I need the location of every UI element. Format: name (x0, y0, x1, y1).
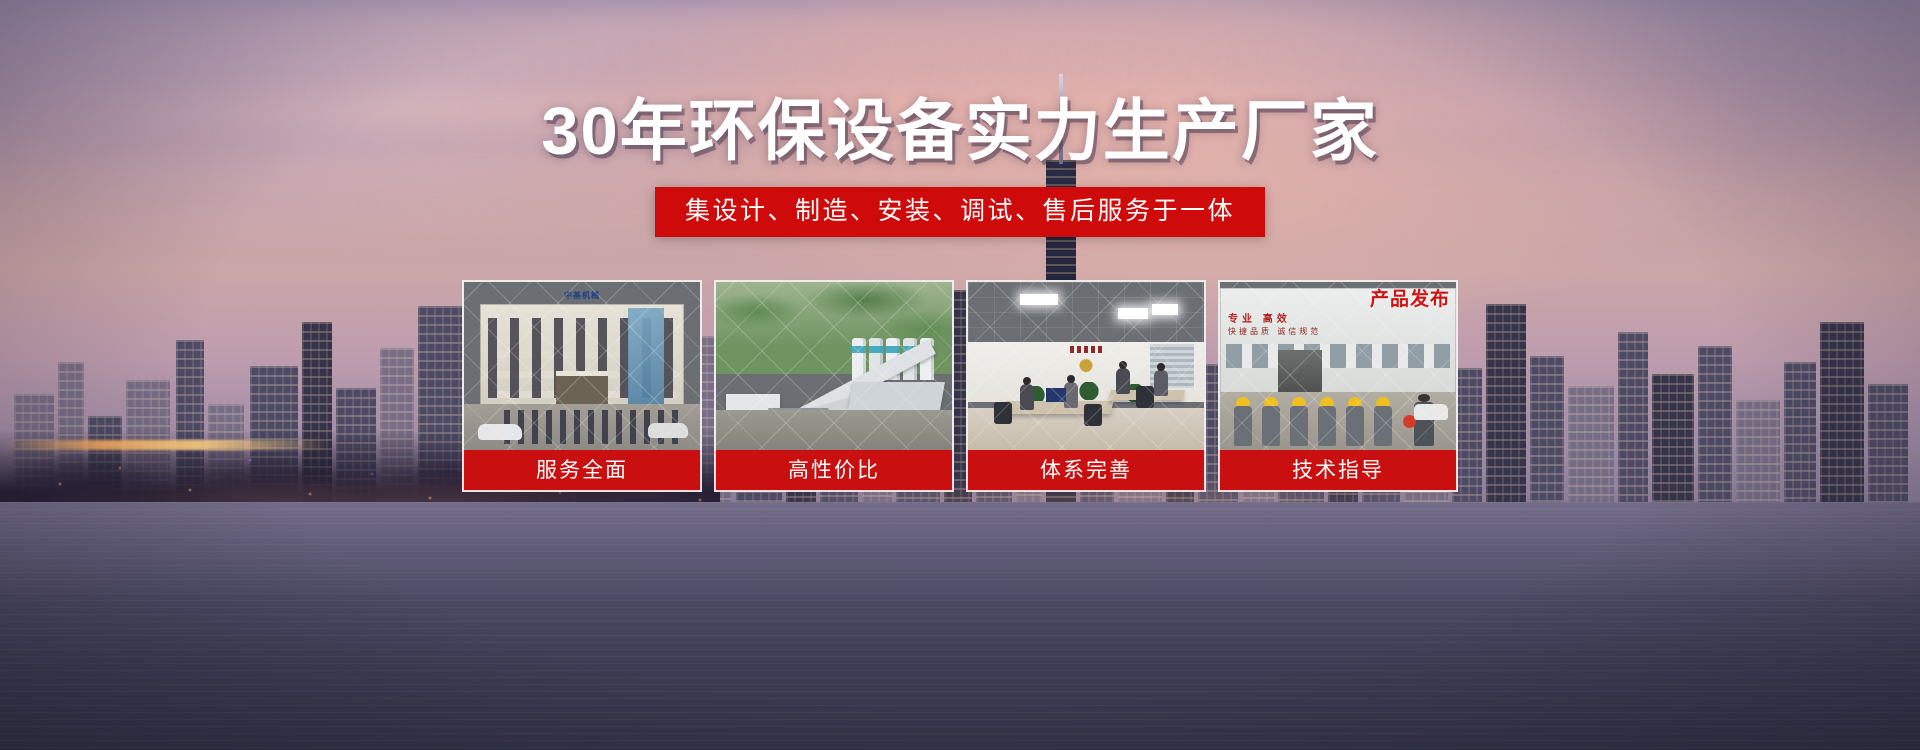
feature-card[interactable]: 高性价比 (714, 280, 954, 492)
factory-slogan: 专业 高效 (1228, 310, 1378, 325)
card-image-factory-workers: 产品发布 专业 高效 快捷品质 诚信规范 (1218, 280, 1458, 450)
hero-banner: 30年环保设备实力生产厂家 集设计、制造、安装、调试、售后服务于一体 中基机械 … (0, 0, 1920, 750)
card-image-headquarters: 中基机械 (462, 280, 702, 450)
card-image-plant-aerial (714, 280, 954, 450)
feature-card[interactable]: 体系完善 (966, 280, 1206, 492)
factory-sign-text: 产品发布 (1370, 284, 1450, 311)
card-caption: 高性价比 (714, 450, 954, 492)
building-sign-text: 中基机械 (564, 290, 600, 301)
feature-card[interactable]: 产品发布 专业 高效 快捷品质 诚信规范 技术指导 (1218, 280, 1458, 492)
card-caption: 体系完善 (966, 450, 1206, 492)
feature-card-list: 中基机械 服务全面 (462, 280, 1458, 492)
card-image-office-interior (966, 280, 1206, 450)
card-caption: 服务全面 (462, 450, 702, 492)
card-caption: 技术指导 (1218, 450, 1458, 492)
subtitle-banner: 集设计、制造、安装、调试、售后服务于一体 (655, 187, 1265, 237)
page-title: 30年环保设备实力生产厂家 (0, 98, 1920, 165)
factory-slogan-secondary: 快捷品质 诚信规范 (1228, 326, 1388, 337)
feature-card[interactable]: 中基机械 服务全面 (462, 280, 702, 492)
